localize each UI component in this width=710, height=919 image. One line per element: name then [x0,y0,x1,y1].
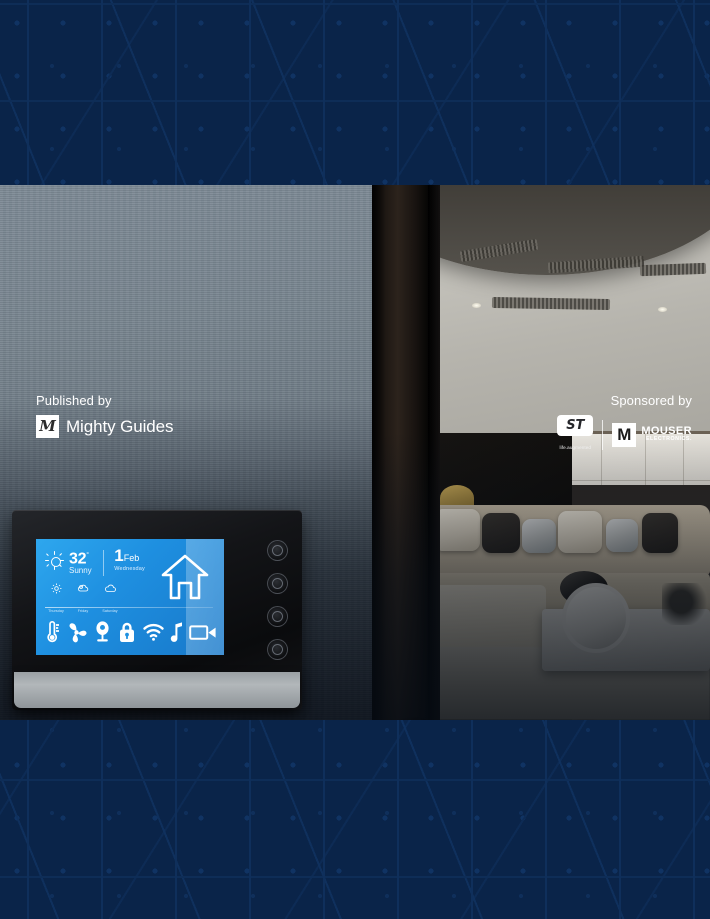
published-by-label: Published by [36,393,173,408]
info-button[interactable] [267,606,288,627]
panel-screen[interactable]: 32° Sunny 1Feb Wednesday [36,539,224,655]
music-note-icon[interactable] [170,621,184,644]
mighty-guides-wordmark: Mighty Guides [66,417,173,437]
fan-icon[interactable] [65,621,88,644]
sponsor-divider [602,420,603,450]
published-by-block: Published by M Mighty Guides [36,393,173,438]
lamp-icon[interactable] [93,620,112,644]
forecast-label: Friday [78,609,89,613]
forecast-row: Thursday Friday Saturday [45,581,145,617]
forecast-item: Saturday [101,581,119,617]
divider [103,550,104,576]
alarm-button[interactable] [267,639,288,660]
forecast-label: Thursday [48,609,64,613]
house-icon[interactable] [160,553,210,601]
st-mark-icon: ST [557,415,593,436]
wifi-icon[interactable] [142,622,165,642]
cloud-sun-icon [77,581,90,598]
mighty-guides-mark-icon: M [36,415,59,438]
forecast-item: Friday [74,581,92,617]
smart-home-control-panel[interactable]: 32° Sunny 1Feb Wednesday [12,510,302,710]
video-camera-icon[interactable] [189,623,217,642]
degree-symbol: ° [86,552,89,559]
cover-photo-band: 32° Sunny 1Feb Wednesday [0,185,710,720]
st-logo[interactable]: ST life.augmented [557,415,593,454]
control-icon-row[interactable] [44,617,218,647]
sponsor-logos: ST life.augmented M MOUSER ELECTRONICS. [557,415,692,454]
mouser-subtitle: ELECTRONICS. [641,437,692,442]
sun-icon [45,551,64,570]
sponsored-by-label: Sponsored by [557,393,692,408]
mouser-mark-icon: M [612,423,636,447]
weather-condition: Sunny [69,566,92,576]
panel-base [14,672,300,708]
power-button[interactable] [267,540,288,561]
date-month: Feb [124,553,140,563]
cloud-icon [104,581,117,598]
mouser-logo[interactable]: M MOUSER ELECTRONICS. [612,423,692,447]
lock-icon[interactable] [117,620,137,644]
sponsored-by-block: Sponsored by ST life.augmented M MOUSER … [557,393,692,454]
forecast-label: Saturday [102,609,117,613]
date-weekday: Wednesday [114,566,145,572]
thermometer-icon[interactable] [44,620,60,644]
forecast-item: Thursday [47,581,65,617]
screen-divider [45,607,213,608]
st-tagline: life.augmented [560,445,592,450]
sun-icon [51,581,62,598]
weather-temperature: 32 [69,550,86,567]
mighty-guides-logo[interactable]: M Mighty Guides [36,415,173,438]
call-button[interactable] [267,573,288,594]
date-day: 1 [114,546,123,565]
panel-side-buttons[interactable] [262,540,292,658]
